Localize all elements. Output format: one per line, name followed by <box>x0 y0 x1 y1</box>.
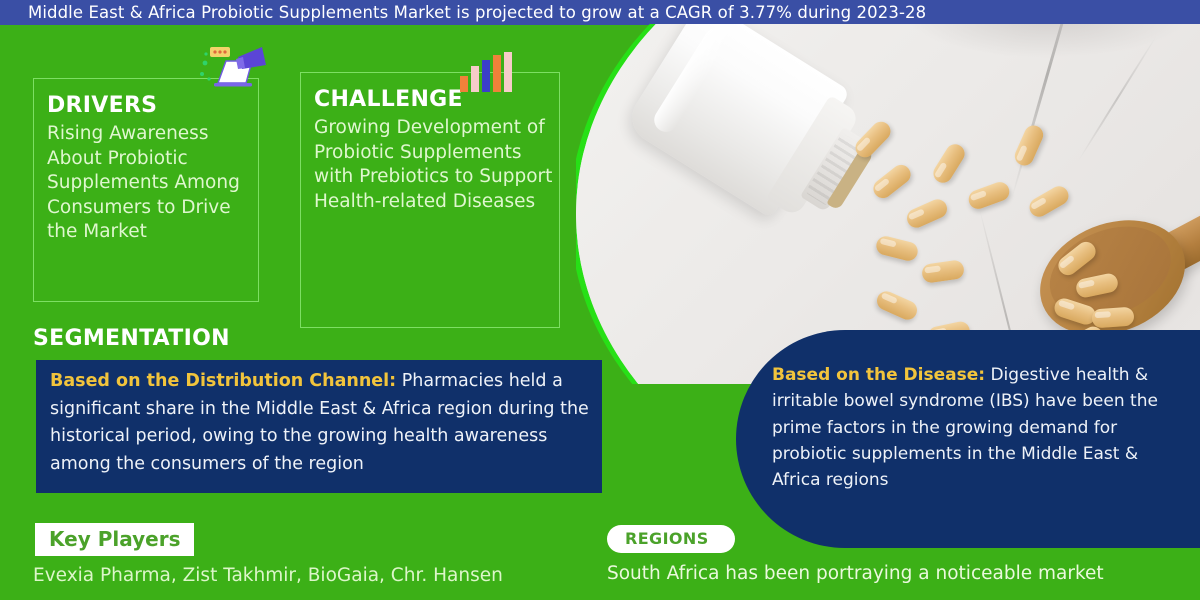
challenge-card: CHALLENGE Growing Development of Probiot… <box>300 72 560 328</box>
segmentation-heading: SEGMENTATION <box>33 326 230 351</box>
drivers-body: Rising Awareness About Probiotic Supplem… <box>47 122 258 245</box>
distribution-channel-label: Based on the Distribution Channel: <box>50 371 396 391</box>
regions-body: South Africa has been portraying a notic… <box>607 561 1187 588</box>
distribution-channel-text: Based on the Distribution Channel: Pharm… <box>50 368 595 479</box>
disease-label: Based on the Disease: <box>772 365 985 385</box>
page-title: Middle East & Africa Probiotic Supplemen… <box>0 3 926 22</box>
drivers-heading: DRIVERS <box>47 93 258 118</box>
challenge-body: Growing Development of Probiotic Supplem… <box>314 116 559 214</box>
regions-badge: REGIONS <box>607 525 735 553</box>
infographic-root: Middle East & Africa Probiotic Supplemen… <box>0 0 1200 600</box>
disease-text: Based on the Disease: Digestive health &… <box>772 362 1187 494</box>
bar-chart-icon <box>458 52 522 92</box>
challenge-heading: CHALLENGE <box>314 87 559 112</box>
key-players-list: Evexia Pharma, Zist Takhmir, BioGaia, Ch… <box>33 563 603 590</box>
key-players-badge: Key Players <box>35 523 194 556</box>
header-banner: Middle East & Africa Probiotic Supplemen… <box>0 0 1200 25</box>
megaphone-laptop-icon <box>196 43 270 89</box>
drivers-card: DRIVERS Rising Awareness About Probiotic… <box>33 78 259 302</box>
